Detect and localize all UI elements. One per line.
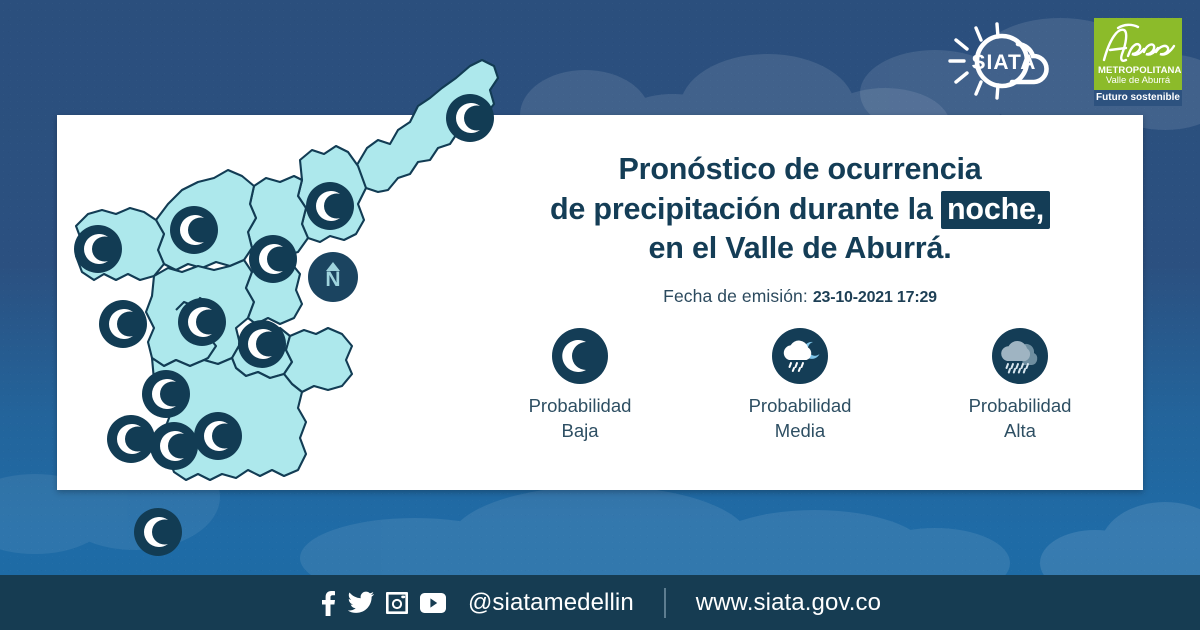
map-marker-moon	[306, 182, 354, 230]
page-title: Pronóstico de ocurrencia de precipitació…	[470, 150, 1130, 269]
youtube-icon[interactable]	[420, 593, 446, 613]
probability-legend: Probabilidad Baja Probabilidad Media	[470, 328, 1130, 443]
map-markers	[74, 94, 494, 556]
compass-rose: N	[308, 252, 358, 302]
footer-bar: @siatamedellin www.siata.gov.co	[0, 575, 1200, 630]
map-svg: N	[58, 44, 558, 574]
social-handle[interactable]: @siatamedellin	[468, 589, 634, 617]
map-marker-moon	[74, 225, 122, 273]
amva-line2: Valle de Aburrá	[1098, 76, 1178, 88]
legend-item-alta: Probabilidad Alta	[930, 328, 1110, 443]
headline-panel: Pronóstico de ocurrencia de precipitació…	[470, 150, 1130, 307]
emission-value: 23-10-2021 17:29	[813, 289, 937, 306]
compass-label: N	[325, 268, 340, 291]
legend-item-media: Probabilidad Media	[710, 328, 890, 443]
cloud-heavy-rain-icon	[992, 328, 1048, 384]
map-marker-moon	[170, 206, 218, 254]
footer-divider	[664, 588, 666, 618]
map-marker-moon	[178, 298, 226, 346]
instagram-icon[interactable]	[385, 591, 409, 615]
map-marker-moon	[249, 235, 297, 283]
municipality-polygon	[284, 328, 352, 392]
map-marker-moon	[446, 94, 494, 142]
svg-text:SIATA: SIATA	[972, 51, 1037, 74]
legend-label-media: Probabilidad Media	[710, 394, 890, 443]
moon-icon	[552, 328, 608, 384]
siata-logo: SIATA	[942, 18, 1082, 104]
logo-group: SIATA METROPOLITANA Valle de Aburrá Futu…	[942, 18, 1182, 106]
twitter-icon[interactable]	[348, 591, 374, 615]
website-link[interactable]: www.siata.gov.co	[696, 589, 881, 617]
map-marker-moon	[107, 415, 155, 463]
headline-line-2-text: de precipitación durante la	[550, 192, 941, 226]
legend-label-baja: Probabilidad Baja	[490, 394, 670, 443]
map-marker-moon	[142, 370, 190, 418]
headline-line-2: de precipitación durante la noche,	[470, 190, 1130, 230]
legend-item-baja: Probabilidad Baja	[490, 328, 670, 443]
forecast-poster: SIATA METROPOLITANA Valle de Aburrá Futu…	[0, 0, 1200, 630]
map-marker-moon	[150, 422, 198, 470]
social-icons	[319, 590, 446, 616]
headline-highlight: noche,	[941, 191, 1050, 229]
emission-date: Fecha de emisión: 23-10-2021 17:29	[470, 286, 1130, 307]
amva-tagline: Futuro sostenible	[1094, 90, 1182, 106]
map-marker-moon	[99, 300, 147, 348]
amva-logo: METROPOLITANA Valle de Aburrá Futuro sos…	[1094, 18, 1182, 106]
headline-line-3: en el Valle de Aburrá.	[470, 229, 1130, 269]
cloud-moon-rain-icon	[772, 328, 828, 384]
map-marker-moon	[238, 320, 286, 368]
map-marker-moon	[134, 508, 182, 556]
legend-label-alta: Probabilidad Alta	[930, 394, 1110, 443]
emission-label: Fecha de emisión:	[663, 286, 808, 306]
map-marker-moon	[194, 412, 242, 460]
facebook-icon[interactable]	[319, 590, 337, 616]
valle-de-aburra-map: N	[58, 44, 558, 574]
headline-line-1: Pronóstico de ocurrencia	[470, 150, 1130, 190]
amva-script-icon	[1098, 22, 1178, 66]
